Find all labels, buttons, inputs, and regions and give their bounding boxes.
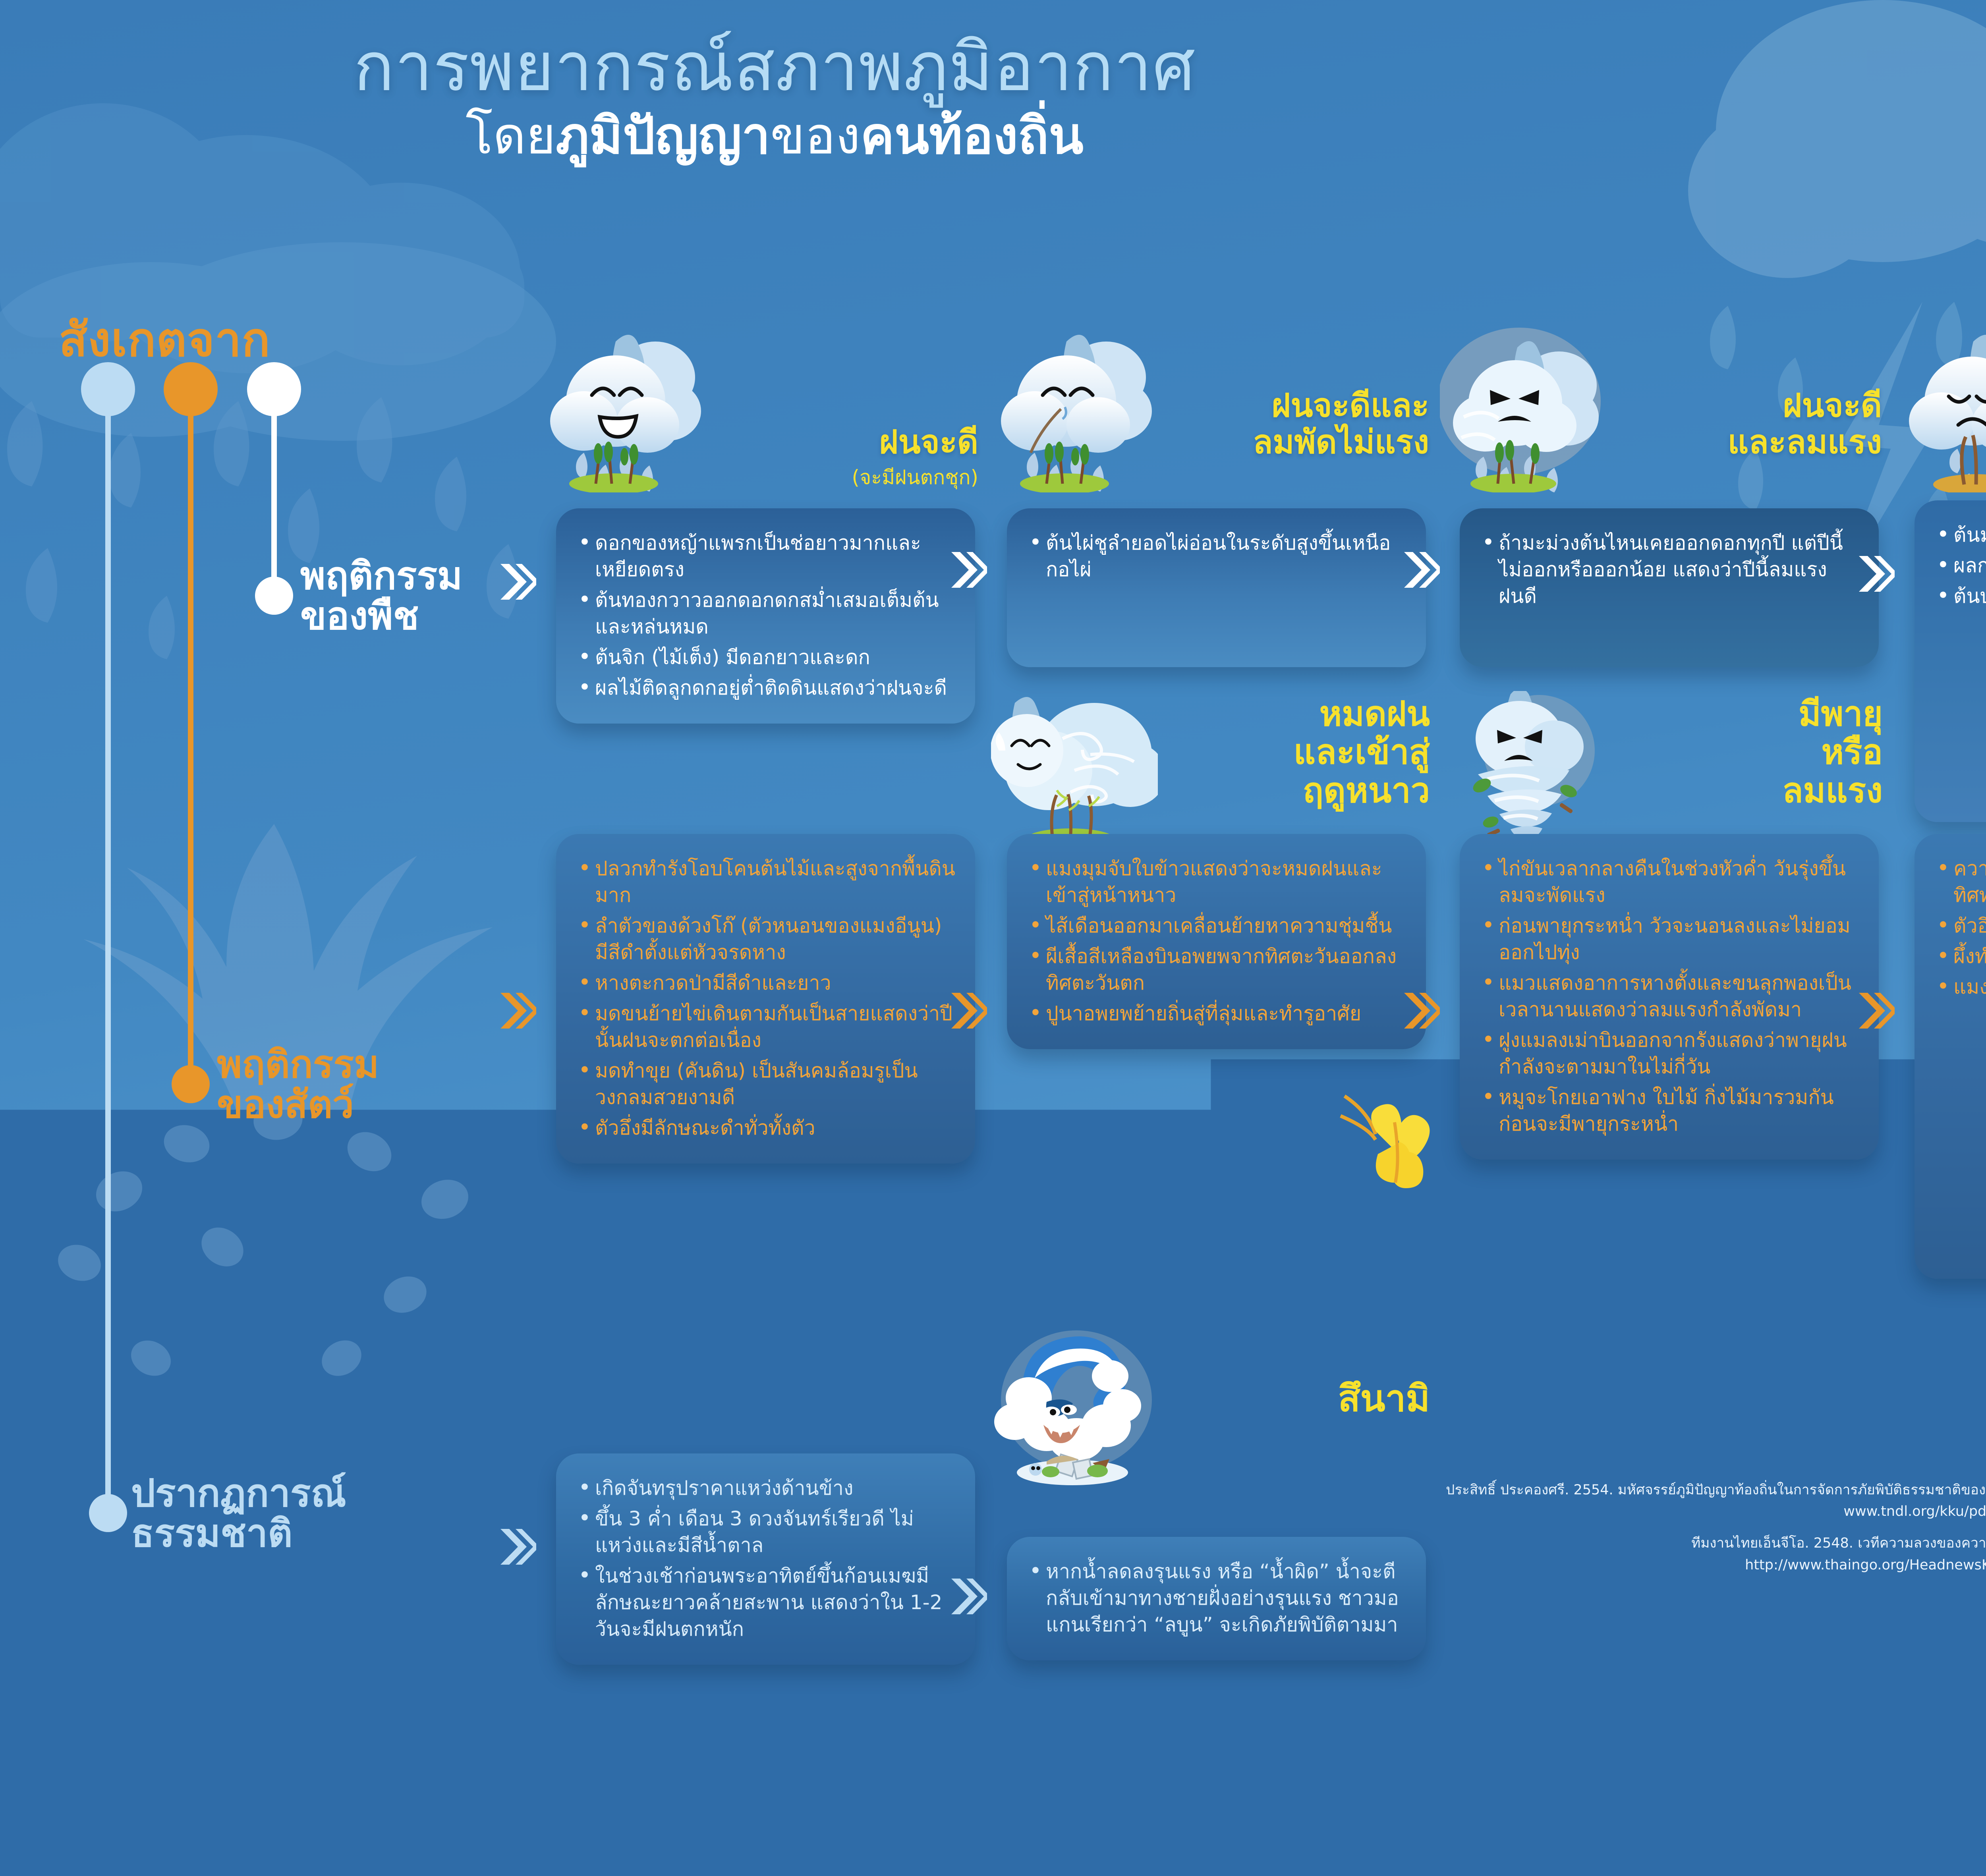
card-plants-2: ถ้ามะม่วงต้นไหนเคยออกดอกทุกปี แต่ปีนี้ไม… <box>1460 508 1879 667</box>
list-item: มดขนย้ายไข่เดินตามกันเป็นสายแสดงว่าปีนั้… <box>577 1000 958 1054</box>
list-item: ควายเมื่อปล่อยจากคอกเอาเท้าหน้าขูดดินทิศ… <box>1935 855 1986 909</box>
list-item: ผึ้งทำรังต่ำ <box>1935 943 1986 970</box>
midblock-end-of-rain: หมดฝน และเข้าสู่ ฤดูหนาว <box>987 691 1434 858</box>
list-item: ตัวอึ่งมีลักษณะดำไม่ทั่วตัว <box>1935 913 1986 939</box>
column-label-0: ฝนจะดี <box>879 424 978 461</box>
column-rain-good: ฝนจะดี (จะมีฝนตกชุก) ดอกของหญ้าแพรกเป็นช… <box>536 314 983 1704</box>
list-item: ในช่วงเช้าก่อนพระอาทิตย์ขึ้นก้อนเมฆมีลัก… <box>577 1563 958 1642</box>
observation-rail: สังเกตจาก พฤติกรรม ของพืช พฤติกรรม ของสั… <box>0 302 556 1692</box>
midblock-label-storm: มีพายุ หรือ ลมแรง <box>1629 695 1883 810</box>
chevron-icon-plants-2 <box>1402 548 1440 592</box>
page-title: การพยากรณ์สภาพภูมิอากาศ <box>0 32 1549 103</box>
list-plants-2: ถ้ามะม่วงต้นไหนเคยออกดอกทุกปี แต่ปีนี้ไม… <box>1480 530 1861 610</box>
chevron-icon-plants-0 <box>498 560 536 604</box>
list-item: ต้นไผ่ชูลำยอดไผ่อ่อนในระดับสูงขึ้นเหนือก… <box>1028 530 1408 583</box>
list-item: ต้นบกมีผลดกเต็มต้น <box>1935 583 1986 610</box>
midblock-tsunami: สึนามิ <box>987 1330 1434 1489</box>
list-item: ผลกะทกรกมีขนหุ้มมาก <box>1935 552 1986 579</box>
list-item: ไส้เดือนออกมาเคลื่อนย้ายหาความชุ่มชื้น <box>1028 913 1408 939</box>
subtitle-part-3: ของ <box>770 106 860 166</box>
rail-label-animals: พฤติกรรม ของสัตว์ <box>217 1044 379 1125</box>
list-item: ตัวอึ่งมีลักษณะดำทั่วทั้งตัว <box>577 1115 958 1141</box>
column-header-1: ฝนจะดีและ ลมพัดไม่แรง <box>987 314 1434 504</box>
midblock-label-tsunami: สึนามิ <box>1176 1378 1430 1419</box>
list-item: ถ้ามะม่วงต้นไหนเคยออกดอกทุกปี แต่ปีนี้ไม… <box>1480 530 1861 610</box>
card-animals-2: ไก่ขันเวลากลางคืนในช่วงหัวค่ำ วันรุ่งขึ้… <box>1460 834 1879 1160</box>
column-header-3: ฝนจะไม่ดี (ฝนตกน้อย มีน้ำน้อย) <box>1895 314 1986 504</box>
card-nature-1: หากน้ำลดลงรุนแรง หรือ “น้ำผิด” น้ำจะตีกล… <box>1007 1537 1426 1660</box>
list-item: ผีเสื้อสีเหลืองบินอพยพจากทิศตะวันออกลงทิ… <box>1028 943 1408 996</box>
card-animals-3: ควายเมื่อปล่อยจากคอกเอาเท้าหน้าขูดดินทิศ… <box>1915 834 1986 1279</box>
subtitle-part-1: โดย <box>466 106 556 166</box>
list-plants-1: ต้นไผ่ชูลำยอดไผ่อ่อนในระดับสูงขึ้นเหนือก… <box>1028 530 1408 583</box>
subtitle-part-2: ภูมิปัญญา <box>556 106 770 166</box>
list-animals-3: ควายเมื่อปล่อยจากคอกเอาเท้าหน้าขูดดินทิศ… <box>1935 855 1986 1000</box>
list-item: ก่อนพายุกระหน่ำ วัวจะนอนลงและไม่ยอมออกไป… <box>1480 913 1861 966</box>
list-item: หมูจะโกยเอาฟาง ใบไม้ กิ่งไม้มารวมกันก่อน… <box>1480 1084 1861 1137</box>
card-plants-3: ต้นมะขามออกดอกมาก ผลกะทกรกมีขนหุ้มมาก ต้… <box>1915 500 1986 822</box>
list-item: หากน้ำลดลงรุนแรง หรือ “น้ำผิด” น้ำจะตีกล… <box>1028 1558 1408 1638</box>
chevron-icon-nature-1 <box>949 1575 987 1618</box>
source-reference-2: ทีมงานไทยเอ็นจีโอ. 2548. เวทีความลวงของค… <box>1419 1532 1986 1576</box>
page-header: การพยากรณ์สภาพภูมิอากาศ โดยภูมิปัญญาของค… <box>0 32 1549 164</box>
tornado-icon <box>1444 691 1611 850</box>
rail-dot-animals <box>164 362 218 416</box>
chevron-icon-animals-2 <box>1402 989 1440 1033</box>
list-plants-3: ต้นมะขามออกดอกมาก ผลกะทกรกมีขนหุ้มมาก ต้… <box>1935 522 1986 610</box>
list-item: แมงดาวางไข่ต่ำ <box>1935 974 1986 1000</box>
crying-rain-cloud-icon <box>987 326 1162 492</box>
list-item: แมวแสดงอาการหางตั้งและขนลุกพองเป็นเวลานา… <box>1480 970 1861 1023</box>
list-animals-1: แมงมุมจับใบข้าวแสดงว่าจะหมดฝนและเข้าสู่ห… <box>1028 855 1408 1027</box>
list-item: ดอกของหญ้าแพรกเป็นช่อยาวมากและเหยียดตรง <box>577 530 958 583</box>
list-item: หางตะกวดป่ามีสีดำและยาว <box>577 970 958 996</box>
source-title: ที่มา : <box>1419 1451 1986 1474</box>
card-plants-0: ดอกของหญ้าแพรกเป็นช่อยาวมากและเหยียดตรง … <box>556 508 975 724</box>
rail-dot-plants <box>247 362 301 416</box>
list-item: ต้นทองกวาวออกดอกดกสม่ำเสมอเต็มต้นและหล่น… <box>577 587 958 640</box>
card-nature-0: เกิดจันทรุปราคาแหว่งด้านข้าง ขึ้น 3 ค่ำ … <box>556 1453 975 1665</box>
windy-cloud-icon <box>991 691 1158 850</box>
rail-label-nature: ปรากฏการณ์ ธรรมชาติ <box>131 1473 346 1554</box>
list-item: ขึ้น 3 ค่ำ เดือน 3 ดวงจันทร์เรียวดี ไม่แ… <box>577 1505 958 1559</box>
butterfly-icon <box>1337 1084 1440 1199</box>
list-item: มดทำขุย (คันดิน) เป็นสันคมล้อมรูเป็นวงกล… <box>577 1058 958 1111</box>
subtitle-part-4: คนท้องถิ่น <box>860 106 1084 166</box>
page-subtitle: โดยภูมิปัญญาของคนท้องถิ่น <box>0 108 1549 164</box>
column-header-0: ฝนจะดี (จะมีฝนตกชุก) <box>536 314 983 504</box>
rail-label-plants: พฤติกรรม ของพืช <box>300 556 462 636</box>
list-item: ปลวกทำรังโอบโคนต้นไม้และสูงจากพื้นดินมาก <box>577 855 958 909</box>
list-plants-0: ดอกของหญ้าแพรกเป็นช่อยาวมากและเหยียดตรง … <box>577 530 958 701</box>
chevron-icon-animals-3 <box>1857 989 1895 1033</box>
list-nature-0: เกิดจันทรุปราคาแหว่งด้านข้าง ขึ้น 3 ค่ำ … <box>577 1475 958 1642</box>
chevron-icon-nature-0 <box>498 1525 536 1569</box>
column-header-2: ฝนจะดี และลมแรง <box>1440 314 1887 504</box>
source-block: ที่มา : ประสิทธิ์ ประคองศรี. 2554. มหัศจ… <box>1419 1451 1986 1586</box>
list-item: ต้นมะขามออกดอกมาก <box>1935 522 1986 548</box>
list-item: ฝูงแมลงเม่าบินออกจากรังแสดงว่าพายุฝนกำลั… <box>1480 1027 1861 1080</box>
column-label-2: ฝนจะดี และลมแรง <box>1728 388 1882 461</box>
card-plants-1: ต้นไผ่ชูลำยอดไผ่อ่อนในระดับสูงขึ้นเหนือก… <box>1007 508 1426 667</box>
chevron-icon-animals-0 <box>498 989 536 1033</box>
list-nature-1: หากน้ำลดลงรุนแรง หรือ “น้ำผิด” น้ำจะตีกล… <box>1028 1558 1408 1638</box>
column-label-1: ฝนจะดีและ ลมพัดไม่แรง <box>1253 388 1429 461</box>
chevron-icon-plants-3 <box>1857 552 1895 596</box>
source-reference-1: ประสิทธิ์ ประคองศรี. 2554. มหัศจรรย์ภูมิ… <box>1419 1479 1986 1523</box>
list-item: ผลไม้ติดลูกดกอยู่ต่ำติดดินแสดงว่าฝนจะดี <box>577 675 958 701</box>
list-item: ปูนาอพยพย้ายถิ่นสู่ที่ลุ่มและทำรูอาศัย <box>1028 1000 1408 1027</box>
chevron-icon-animals-1 <box>949 989 987 1033</box>
list-item: แมงมุมจับใบข้าวแสดงว่าจะหมดฝนและเข้าสู่ห… <box>1028 855 1408 909</box>
column-sublabel-0: (จะมีฝนตกชุก) <box>852 462 978 493</box>
list-animals-0: ปลวกทำรังโอบโคนต้นไม้และสูงจากพื้นดินมาก… <box>577 855 958 1141</box>
list-item: เกิดจันทรุปราคาแหว่งด้านข้าง <box>577 1475 958 1502</box>
card-animals-1: แมงมุมจับใบข้าวแสดงว่าจะหมดฝนและเข้าสู่ห… <box>1007 834 1426 1049</box>
list-item: ลำตัวของด้วงโก๊ (ตัวหนอนของแมงอีนูน) มีส… <box>577 913 958 966</box>
list-animals-2: ไก่ขันเวลากลางคืนในช่วงหัวค่ำ วันรุ่งขึ้… <box>1480 855 1861 1137</box>
sad-rain-cloud-icon <box>1895 326 1986 492</box>
list-item: ไก่ขันเวลากลางคืนในช่วงหัวค่ำ วันรุ่งขึ้… <box>1480 855 1861 909</box>
cloud-shape-right <box>1688 0 1986 278</box>
list-item: ต้นจิก (ไม้เต็ง) มีดอกยาวและดก <box>577 644 958 671</box>
angry-storm-cloud-icon <box>1440 326 1615 492</box>
midblock-label-end-of-rain: หมดฝน และเข้าสู่ ฤดูหนาว <box>1176 695 1430 810</box>
tsunami-wave-icon <box>991 1330 1158 1489</box>
chevron-icon-plants-1 <box>949 548 987 592</box>
card-animals-0: ปลวกทำรังโอบโคนต้นไม้และสูงจากพื้นดินมาก… <box>556 834 975 1164</box>
column-rain-good-light-wind: ฝนจะดีและ ลมพัดไม่แรง ต้นไผ่ชูลำยอดไผ่อ่… <box>987 314 1434 1704</box>
midblock-storm: มีพายุ หรือ ลมแรง <box>1440 691 1887 858</box>
happy-rain-cloud-icon <box>536 326 711 492</box>
rail-dot-nature <box>81 362 135 416</box>
